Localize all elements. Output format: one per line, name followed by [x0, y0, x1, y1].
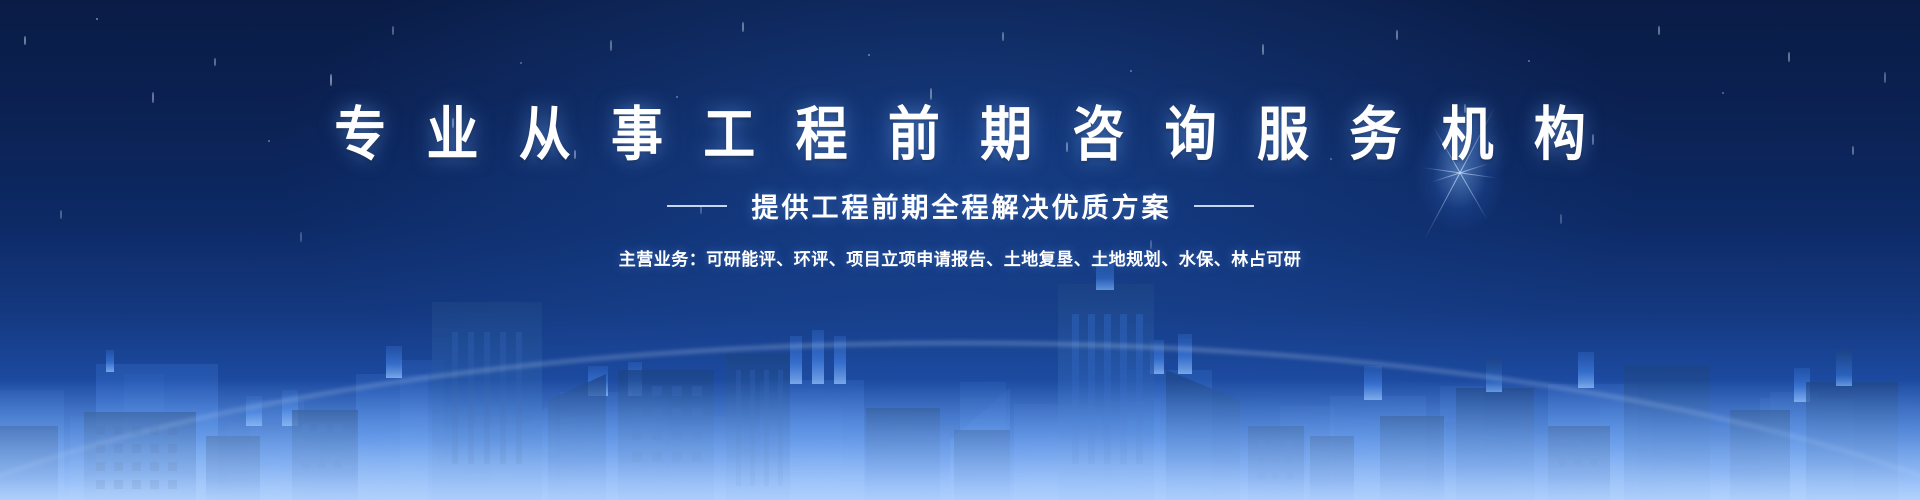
- business-scope-text: 主营业务：可研能评、环评、项目立项申请报告、土地复垦、土地规划、水保、林占可研: [0, 245, 1920, 270]
- hero-banner: 专 业 从 事 工 程 前 期 咨 询 服 务 机 构 提供工程前期全程解决优质…: [0, 0, 1920, 500]
- right-dash-decor: [1194, 205, 1254, 207]
- left-dash-decor: [667, 205, 727, 207]
- page-title: 专 业 从 事 工 程 前 期 咨 询 服 务 机 构: [0, 104, 1920, 167]
- subtitle-row: 提供工程前期全程解决优质方案: [0, 186, 1920, 225]
- bottom-light-wash: [0, 380, 1920, 500]
- banner-content: 专 业 从 事 工 程 前 期 咨 询 服 务 机 构 提供工程前期全程解决优质…: [0, 0, 1920, 270]
- banner-subtitle: 提供工程前期全程解决优质方案: [749, 186, 1172, 225]
